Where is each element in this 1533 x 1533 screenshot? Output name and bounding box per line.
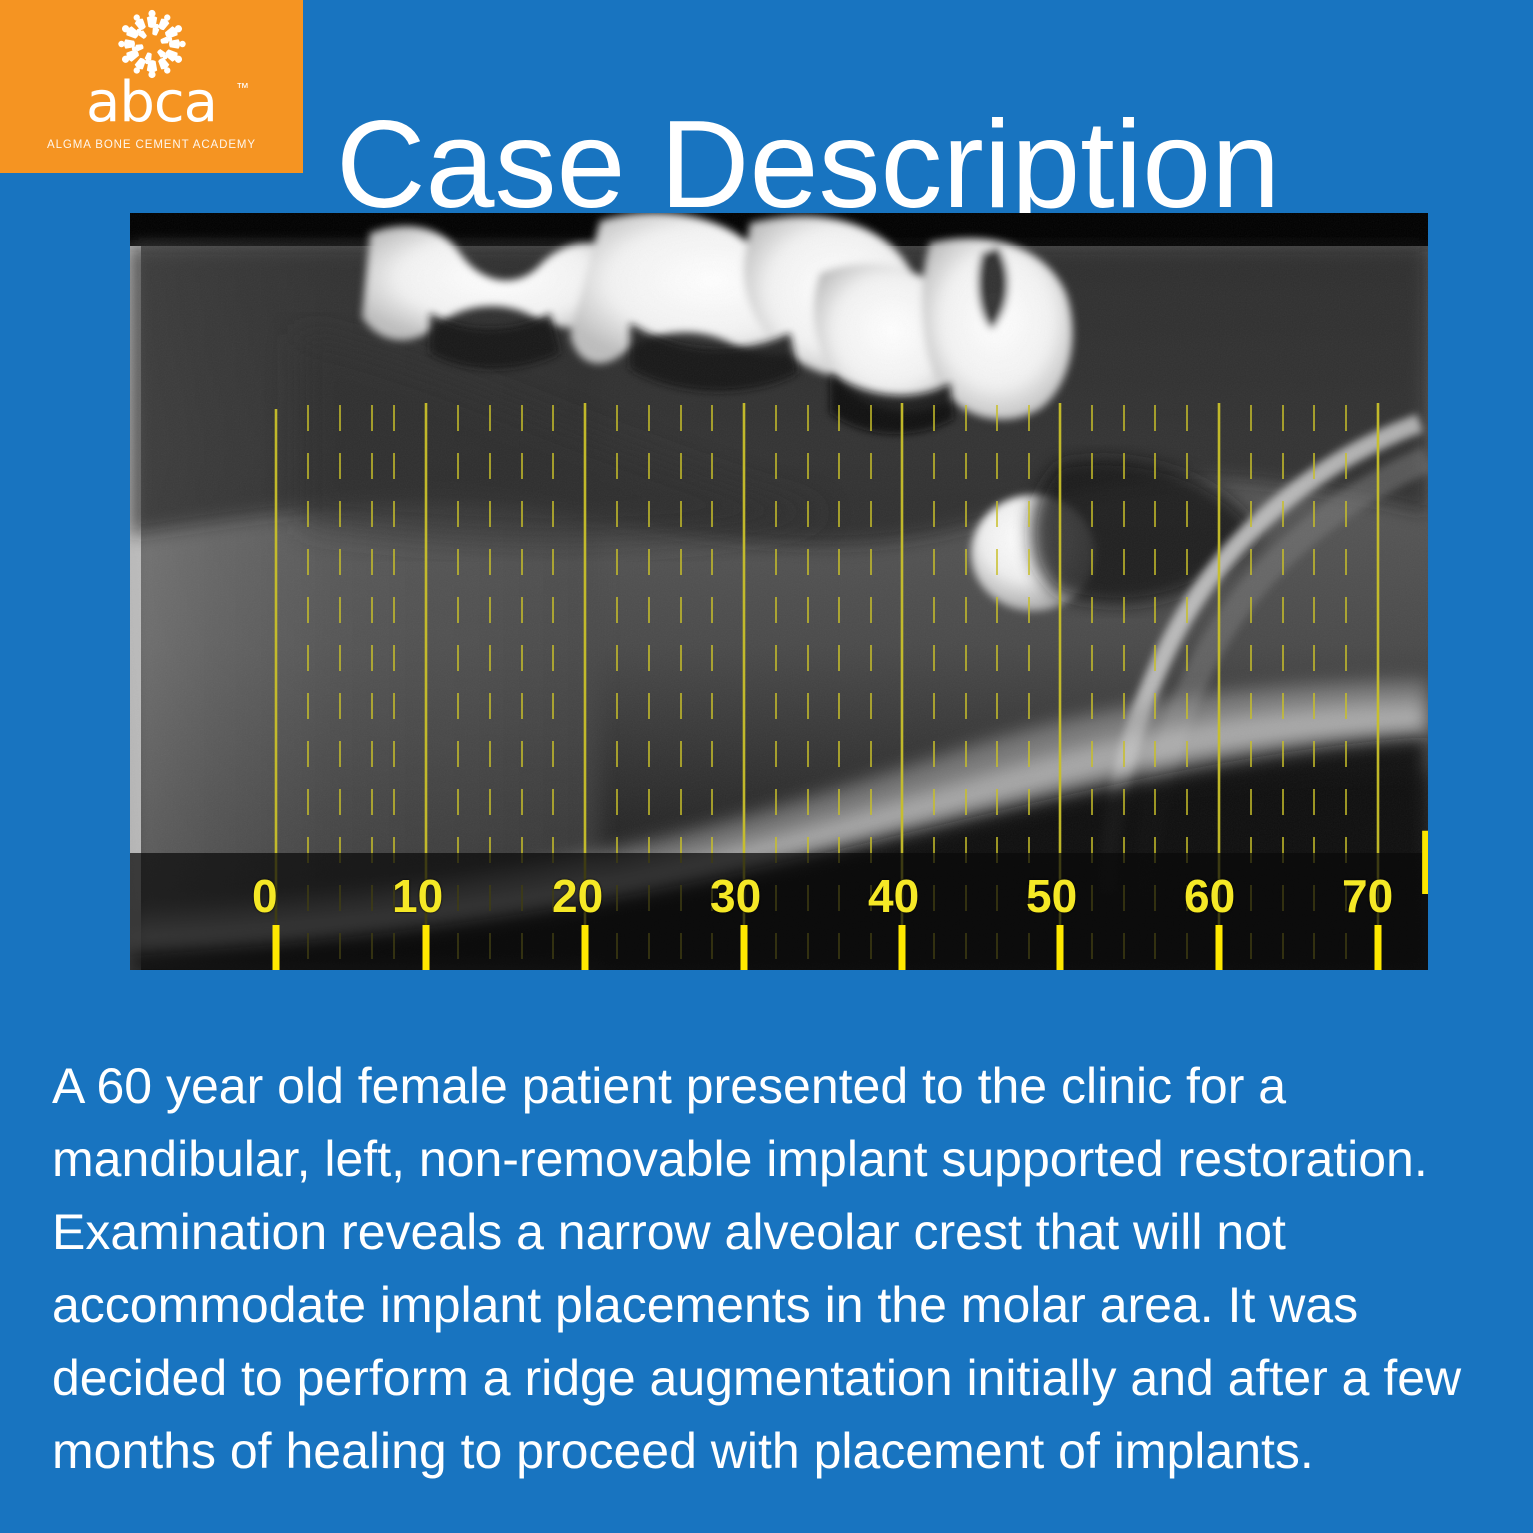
brand-logo-box: abca ™ ALGMA BONE CEMENT ACADEMY: [0, 0, 303, 173]
case-description-text: A 60 year old female patient presented t…: [52, 1050, 1502, 1488]
brand-wordmark: abca: [0, 74, 303, 132]
dental-xray-image: [130, 213, 1428, 970]
slide-header: abca ™ ALGMA BONE CEMENT ACADEMY Case De…: [0, 0, 1533, 200]
trademark-symbol: ™: [236, 80, 249, 95]
brand-tagline: ALGMA BONE CEMENT ACADEMY: [0, 139, 303, 151]
slide-root: abca ™ ALGMA BONE CEMENT ACADEMY Case De…: [0, 0, 1533, 1533]
radiograph-panel: 0 10 20 30 40 50 60 70 80 L: [130, 213, 1428, 970]
